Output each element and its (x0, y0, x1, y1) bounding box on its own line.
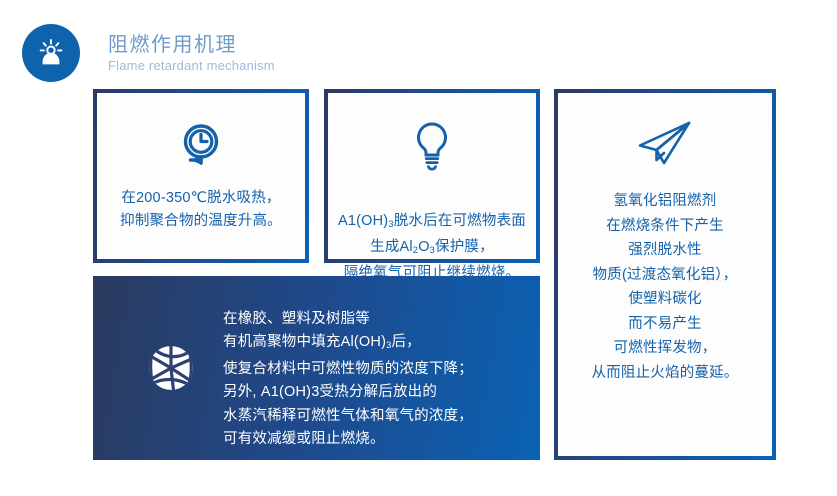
card-icon-wrap (176, 119, 226, 173)
filler-text: 在橡胶、塑料及树脂等 有机高聚物中填充Al(OH)3后， 使复合材料中可燃性物质… (223, 284, 473, 452)
card-spread-text: 氢氧化铝阻燃剂 在燃烧条件下产生 强烈脱水性 物质(过渡态氧化铝）， 使塑料碳化… (584, 189, 747, 385)
siren-base (43, 53, 60, 65)
clock-rewind-icon (176, 119, 226, 173)
page-subtitle: Flame retardant mechanism (108, 58, 275, 74)
page-title: 阻燃作用机理 (108, 34, 275, 57)
filler-icon-wrap (145, 342, 197, 394)
card-protective-film[interactable]: A1(OH)3脱水后在可燃物表面 生成Al2O3保护膜， 隔绝氧气可阻止继续燃烧… (324, 89, 540, 263)
title-block: 阻燃作用机理 Flame retardant mechanism (108, 34, 275, 74)
card-film-text: A1(OH)3脱水后在可燃物表面 生成Al2O3保护膜， 隔绝氧气可阻止继续燃烧… (330, 187, 534, 285)
film-text-run-4: O (418, 239, 429, 255)
filler-text-run-2: 后， 使复合材料中可燃性物质的浓度下降； 另外, A1(OH)3受热分解后放出的… (223, 334, 473, 447)
page-header: 阻燃作用机理 Flame retardant mechanism (22, 24, 275, 82)
card-icon-wrap (634, 117, 696, 171)
card-inner: 氢氧化铝阻燃剂 在燃烧条件下产生 强烈脱水性 物质(过渡态氧化铝）， 使塑料碳化… (558, 93, 772, 456)
film-text-run-0: A1(OH) (338, 213, 388, 229)
brand-badge (22, 24, 80, 82)
card-heat-text: 在200-350℃脱水吸热， 抑制聚合物的温度升高。 (112, 187, 290, 233)
card-inner: A1(OH)3脱水后在可燃物表面 生成Al2O3保护膜， 隔绝氧气可阻止继续燃烧… (328, 93, 536, 259)
globe-sphere-icon (146, 343, 196, 393)
card-flame-spread[interactable]: 氢氧化铝阻燃剂 在燃烧条件下产生 强烈脱水性 物质(过渡态氧化铝）， 使塑料碳化… (554, 89, 776, 460)
card-inner: 在200-350℃脱水吸热， 抑制聚合物的温度升高。 (97, 93, 305, 259)
alarm-siren-icon (34, 36, 68, 70)
card-icon-wrap (410, 119, 454, 173)
paper-plane-icon (634, 117, 696, 171)
card-filler-dilution[interactable]: 在橡胶、塑料及树脂等 有机高聚物中填充Al(OH)3后， 使复合材料中可燃性物质… (93, 276, 540, 460)
lightbulb-icon (410, 119, 454, 173)
filler-text-run-0: 在橡胶、塑料及树脂等 有机高聚物中填充Al(OH) (223, 311, 386, 351)
card-heat-absorption[interactable]: 在200-350℃脱水吸热， 抑制聚合物的温度升高。 (93, 89, 309, 263)
